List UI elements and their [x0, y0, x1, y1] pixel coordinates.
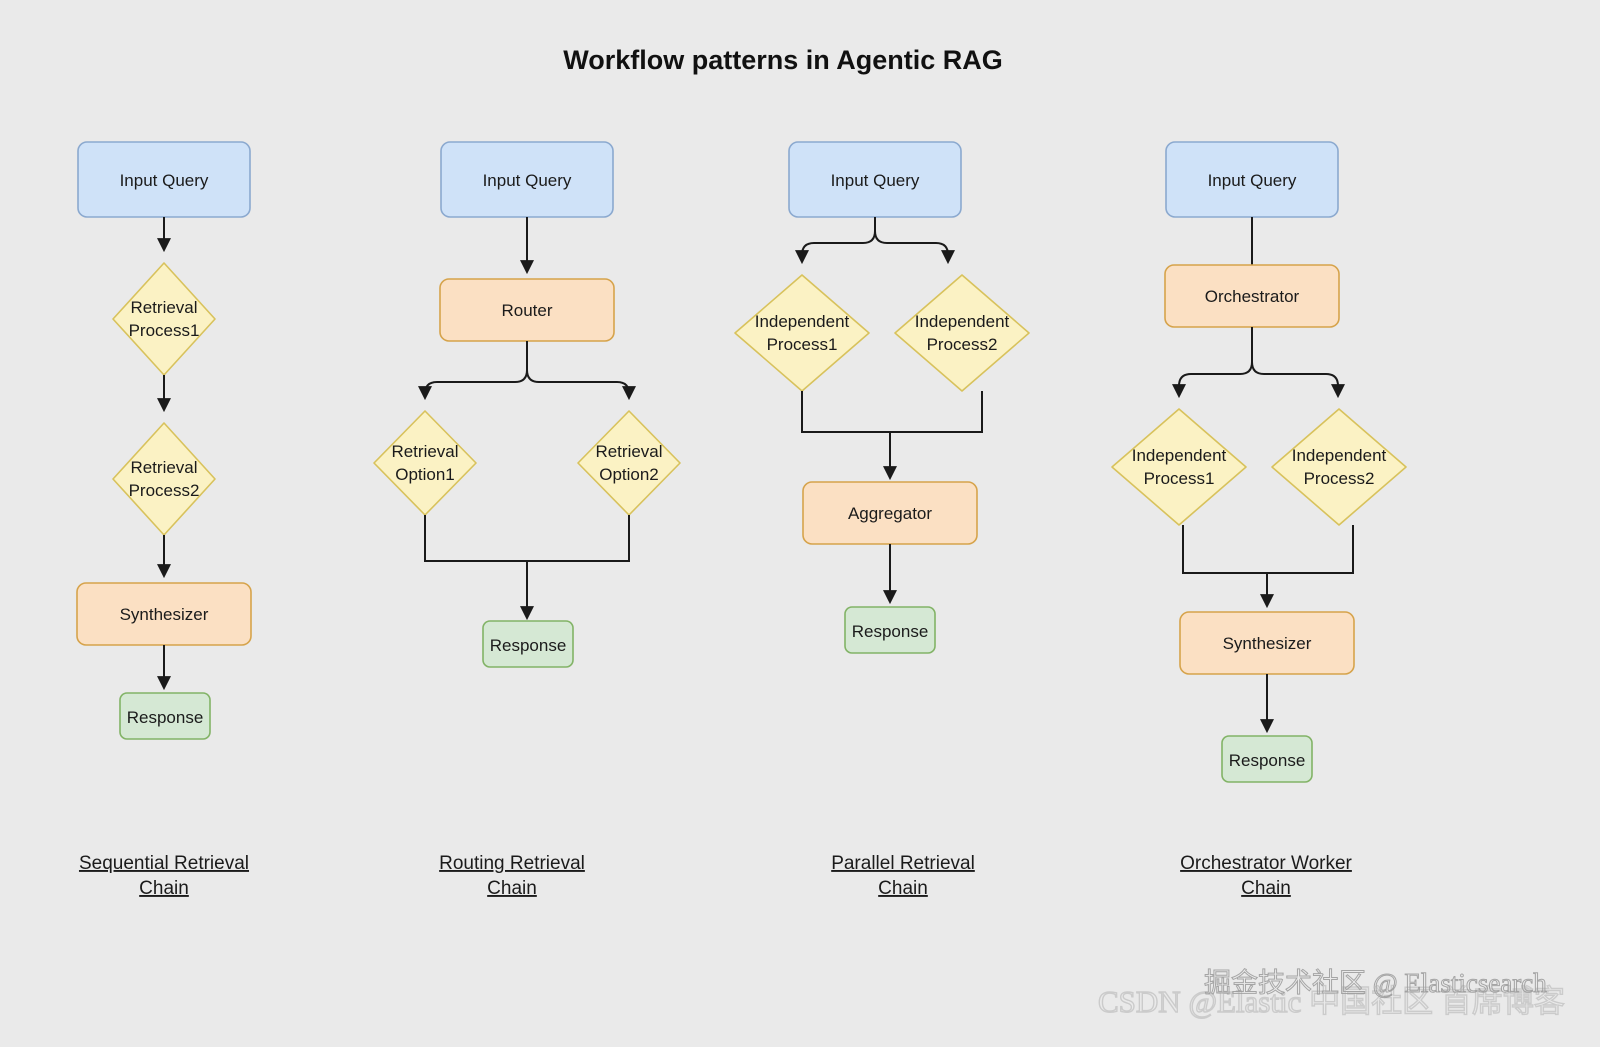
node-label: Response	[1229, 751, 1306, 770]
node-label: Response	[127, 708, 204, 727]
column-caption-line1: Orchestrator Worker	[1180, 853, 1352, 874]
node-c4-response[interactable]: Response	[1222, 736, 1312, 782]
node-label-line2: Option1	[395, 465, 455, 484]
node-label: Input Query	[1208, 171, 1297, 190]
node-label: Input Query	[120, 171, 209, 190]
node-c4-orchestrator[interactable]: Orchestrator	[1165, 265, 1339, 327]
page-title: Workflow patterns in Agentic RAG	[563, 45, 1003, 75]
node-c3-response[interactable]: Response	[845, 607, 935, 653]
node-label: Synthesizer	[1223, 634, 1312, 653]
node-label: Response	[852, 622, 929, 641]
watermark-juejin: 掘金技术社区 @ Elasticsearch	[1204, 968, 1547, 998]
column-caption-line2: Chain	[1241, 878, 1291, 899]
node-label: Input Query	[831, 171, 920, 190]
node-label: Response	[490, 636, 567, 655]
node-c1-synthesizer[interactable]: Synthesizer	[77, 583, 251, 645]
diagram-canvas: Workflow patterns in Agentic RAG Input Q…	[0, 0, 1600, 1047]
node-label: Aggregator	[848, 504, 932, 523]
node-label-line2: Process2	[927, 335, 998, 354]
node-label-line2: Process1	[1144, 469, 1215, 488]
node-label: Input Query	[483, 171, 572, 190]
node-label-line2: Option2	[599, 465, 659, 484]
node-label-line1: Independent	[1292, 446, 1387, 465]
column-caption-line2: Chain	[139, 878, 189, 899]
node-label-line1: Retrieval	[130, 298, 197, 317]
node-c2-response[interactable]: Response	[483, 621, 573, 667]
node-c4-synthesizer[interactable]: Synthesizer	[1180, 612, 1354, 674]
node-label-line1: Independent	[1132, 446, 1227, 465]
node-c2-input[interactable]: Input Query	[441, 142, 613, 217]
column-caption-line1: Routing Retrieval	[439, 853, 585, 874]
node-c1-response[interactable]: Response	[120, 693, 210, 739]
node-label-line1: Retrieval	[391, 442, 458, 461]
node-label-line1: Retrieval	[130, 458, 197, 477]
node-c4-input[interactable]: Input Query	[1166, 142, 1338, 217]
node-label-line2: Process1	[129, 321, 200, 340]
node-c3-aggregator[interactable]: Aggregator	[803, 482, 977, 544]
node-label-line2: Process2	[129, 481, 200, 500]
column-caption-line1: Sequential Retrieval	[79, 853, 249, 874]
node-label-line2: Process2	[1304, 469, 1375, 488]
node-c1-input[interactable]: Input Query	[78, 142, 250, 217]
node-c3-input[interactable]: Input Query	[789, 142, 961, 217]
column-caption-line2: Chain	[487, 878, 537, 899]
column-caption-line2: Chain	[878, 878, 928, 899]
node-label-line1: Independent	[755, 312, 850, 331]
node-label: Orchestrator	[1205, 287, 1300, 306]
column-caption-line1: Parallel Retrieval	[831, 853, 975, 874]
node-label: Synthesizer	[120, 605, 209, 624]
node-label-line1: Independent	[915, 312, 1010, 331]
node-c2-router[interactable]: Router	[440, 279, 614, 341]
node-label: Router	[501, 301, 552, 320]
node-label-line2: Process1	[767, 335, 838, 354]
node-label-line1: Retrieval	[595, 442, 662, 461]
